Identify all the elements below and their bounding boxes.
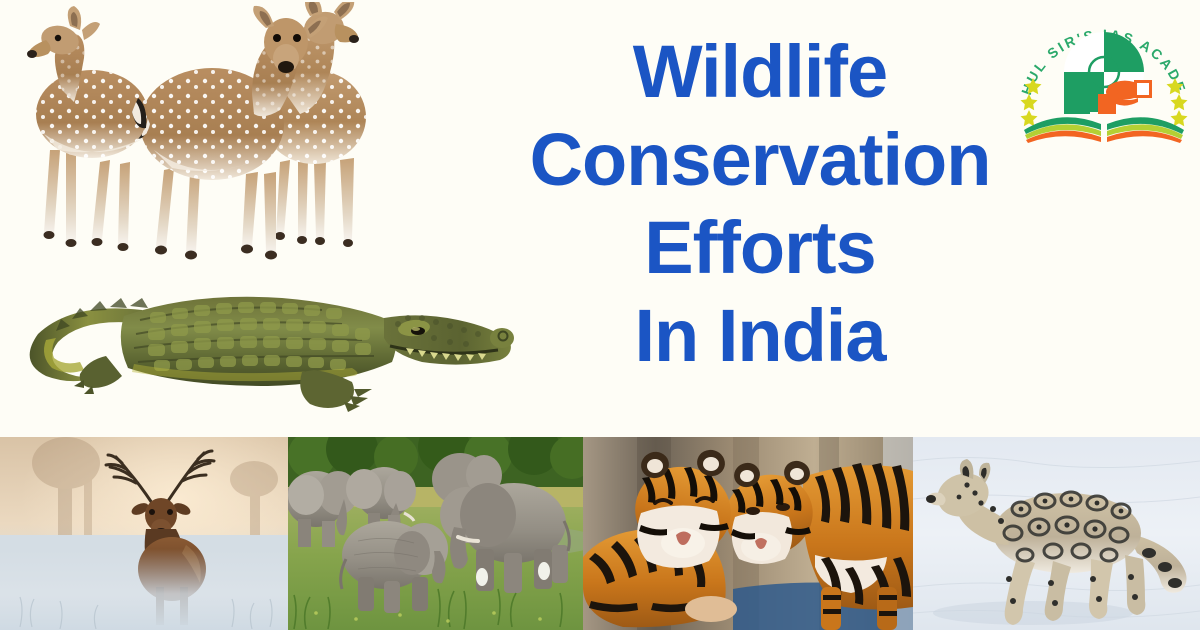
rahul-sirs-ias-academy-logo: RAHUL SIR'S IAS ACADEMY: [1016, 2, 1192, 144]
title-line-4: In India: [635, 292, 886, 380]
logo-book: [1024, 117, 1184, 143]
poster-title: Wildlife Conservation Efforts In India: [450, 28, 1070, 408]
egret-1: [476, 568, 488, 586]
poster-top-area: Wildlife Conservation Efforts In India R…: [0, 0, 1200, 437]
photo-red-deer-stag: [0, 437, 288, 630]
title-line-2: Conservation: [530, 116, 991, 204]
photo-tigers-pair: [583, 437, 913, 630]
photo-strip: [0, 437, 1200, 630]
title-line-3: Efforts: [644, 204, 875, 292]
title-line-1: Wildlife: [633, 28, 887, 116]
photo-snow-leopard: [913, 437, 1200, 630]
fawn-left: [27, 6, 148, 251]
fawns-illustration: [14, 2, 404, 274]
photo-elephant-herd: [288, 437, 583, 630]
wildlife-poster: Wildlife Conservation Efforts In India R…: [0, 0, 1200, 630]
egret-2: [538, 562, 550, 580]
